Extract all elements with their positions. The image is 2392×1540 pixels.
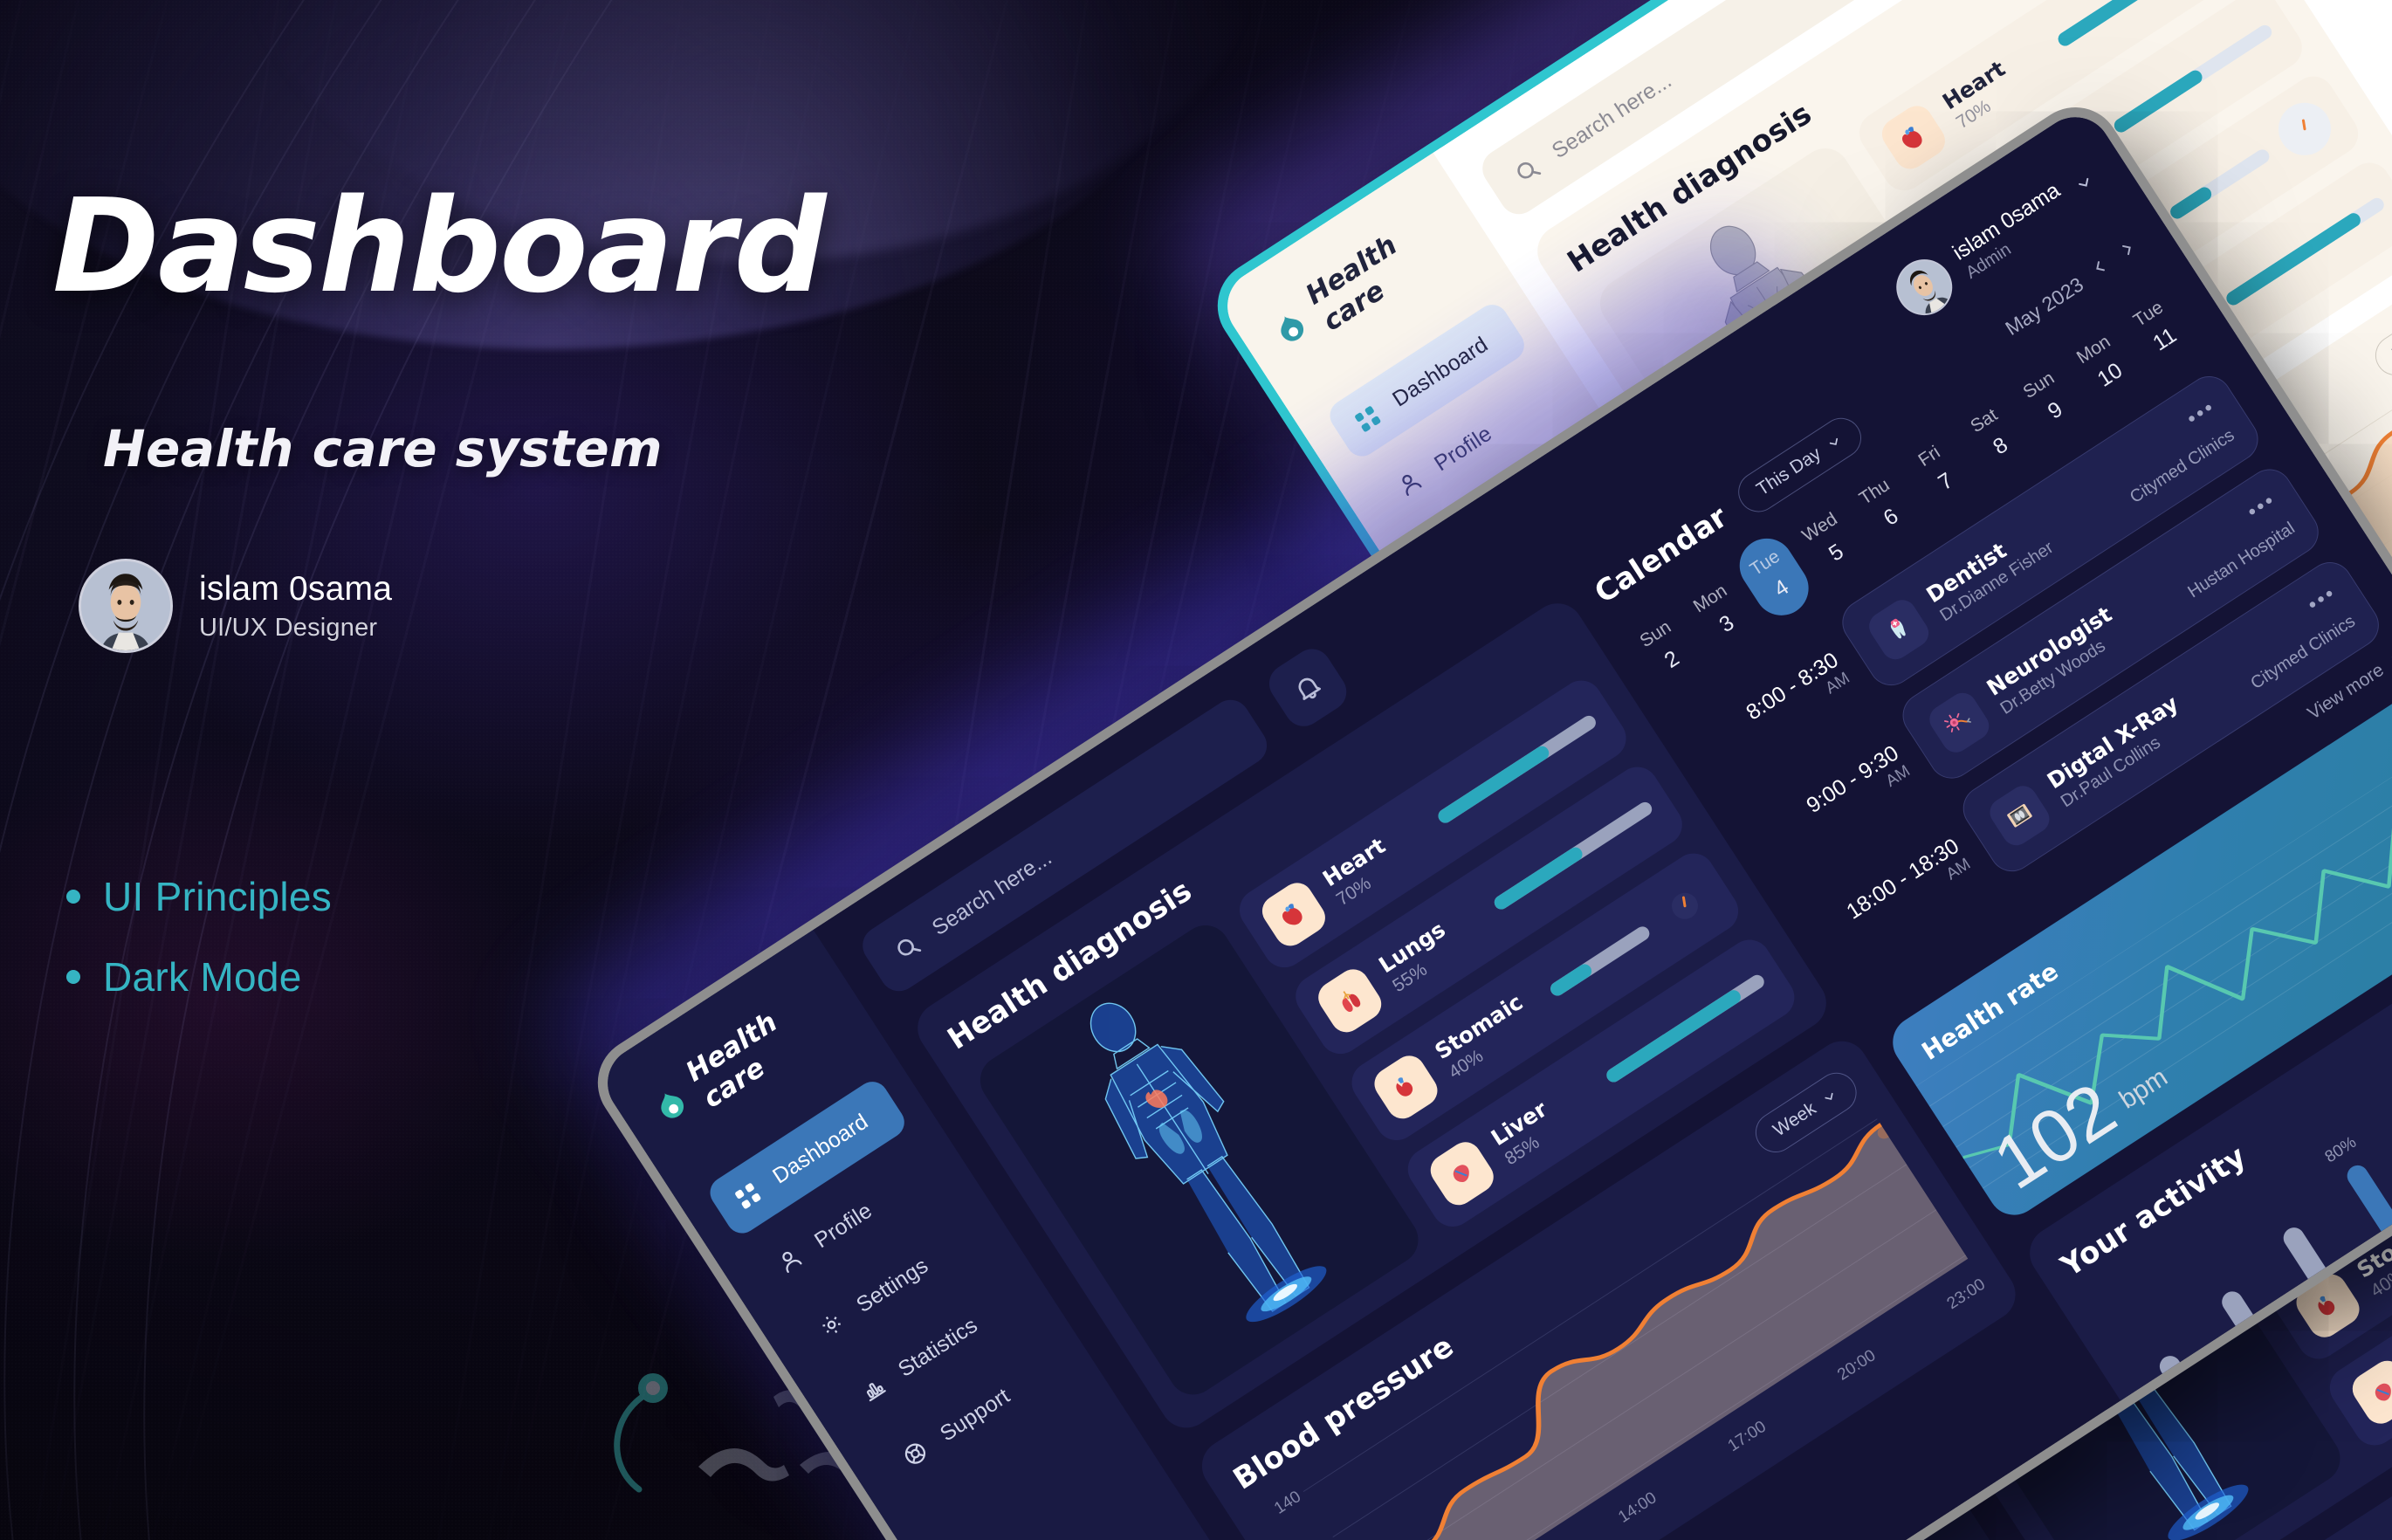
sidebar-item-label: Support — [936, 1383, 1014, 1447]
bp-x-tick: 14:00 — [1615, 1488, 1660, 1527]
organ-progress-bar — [2168, 147, 2272, 221]
chevron-left-icon — [2086, 254, 2113, 280]
notifications-button[interactable] — [1262, 642, 1354, 733]
organ-progress-bar — [1548, 924, 1652, 998]
chevron-right-icon — [2114, 236, 2141, 262]
user-icon — [772, 1242, 808, 1278]
gear-icon — [814, 1307, 849, 1343]
feature-label: UI Principles — [103, 873, 332, 920]
lungs-organ-icon — [1330, 980, 1371, 1021]
lifebuoy-icon — [897, 1435, 933, 1471]
search-icon — [890, 930, 925, 966]
stomach-organ-icon — [2307, 1285, 2348, 1326]
sidebar-item-label: Dashboard — [768, 1109, 873, 1189]
avatar-portrait-icon — [81, 561, 170, 650]
liver-organ-icon — [1425, 1136, 1500, 1211]
page-subtitle: Health care system — [103, 419, 663, 478]
more-options-icon[interactable]: ••• — [2182, 395, 2221, 431]
chevron-down-icon — [2072, 170, 2098, 196]
blood-pressure-range-value: Week — [1770, 1098, 1820, 1141]
bullet-dot-icon — [66, 890, 80, 904]
appointment-time: 9:00 - 9:30 AM — [2369, 0, 2392, 89]
feature-list: UI Principles Dark Mode — [66, 873, 332, 1000]
chevron-right-icon — [2385, 649, 2392, 670]
logo-drop-icon — [647, 1081, 695, 1129]
search-icon — [1509, 153, 1545, 189]
liver-organ-icon — [1441, 1153, 1482, 1194]
appointment-place: ••• Hustan Hospital — [2164, 488, 2299, 602]
liver-organ-icon — [2363, 1372, 2392, 1413]
tooth-icon — [1864, 595, 1934, 664]
chart-icon — [856, 1372, 891, 1407]
avatar — [1886, 249, 1963, 327]
lungs-organ-icon — [1312, 963, 1387, 1038]
feature-label: Dark Mode — [103, 953, 302, 1000]
xray-icon — [2000, 796, 2038, 835]
grid-icon — [730, 1178, 766, 1213]
author-block: islam 0sama UI/UX Designer — [79, 559, 392, 653]
appointment-time-range: 9:00 - 9:30 — [2369, 0, 2392, 73]
appointment-place: ••• Citymed Clinics — [2107, 395, 2238, 508]
list-item: Dark Mode — [66, 953, 332, 1000]
bp-x-tick: 20:00 — [1834, 1346, 1880, 1385]
bp-y-tick: 120 — [1303, 1537, 1337, 1540]
appointment-text: Dentist Dr.Dianne Fisher — [1921, 515, 2057, 626]
grid-icon — [1350, 401, 1385, 437]
tooth-icon — [1880, 610, 1918, 649]
more-options-icon[interactable]: ••• — [2303, 581, 2341, 617]
calendar-range-value: This Day — [1753, 443, 1825, 500]
calendar-prev-button[interactable] — [2086, 254, 2116, 285]
sidebar-item-label: Settings — [852, 1253, 933, 1317]
sidebar-item-label: Statistics — [894, 1312, 982, 1382]
author-name: islam 0sama — [199, 570, 392, 608]
activity-peak-label: 80% — [2322, 1133, 2361, 1167]
calendar-month-label: May 2023 — [2001, 272, 2087, 340]
bullet-dot-icon — [66, 970, 80, 984]
list-item: UI Principles — [66, 873, 332, 920]
neuron-icon — [1940, 703, 1978, 741]
heart-organ-icon — [1256, 877, 1331, 952]
organ-meta: Stomaic 40% — [1430, 982, 1550, 1083]
appointment-place: ••• Citymed Clinics — [2227, 581, 2359, 694]
avatar-portrait-icon — [1887, 251, 1960, 324]
author-text: islam 0sama UI/UX Designer — [199, 570, 392, 643]
gauge-icon — [2268, 93, 2340, 165]
chevron-down-icon — [1819, 1086, 1841, 1108]
chevron-down-icon — [1824, 431, 1846, 453]
page-title: Dashboard — [52, 171, 825, 321]
heart-organ-icon — [1876, 100, 1951, 175]
heart-organ-icon — [1893, 117, 1934, 158]
brand-name: Health care — [681, 976, 847, 1114]
liver-organ-icon — [2347, 1355, 2392, 1430]
author-role: UI/UX Designer — [199, 614, 392, 643]
logo-drop-icon — [1267, 304, 1315, 352]
heart-organ-icon — [1273, 894, 1314, 935]
brand-name: Health care — [1301, 199, 1467, 337]
organ-meta: Liver 85% — [1487, 1069, 1606, 1170]
bp-y-tick: 140 — [1271, 1488, 1305, 1519]
avatar — [79, 559, 173, 653]
bell-icon — [1288, 667, 1329, 708]
calendar-next-button[interactable] — [2114, 236, 2144, 266]
neuron-icon — [1924, 687, 1994, 757]
blood-pressure-range-select[interactable]: Week — [2368, 288, 2392, 383]
xray-icon — [1984, 780, 2054, 850]
bp-x-tick: 17:00 — [1725, 1418, 1770, 1456]
organ-meta: Lungs 55% — [1374, 896, 1494, 997]
search-placeholder: Search here... — [927, 845, 1055, 941]
more-options-icon[interactable]: ••• — [2243, 488, 2281, 525]
stomach-organ-icon — [1369, 1049, 1444, 1124]
sidebar-item-label: Profile — [810, 1198, 876, 1254]
bp-x-tick: 23:00 — [1944, 1275, 1990, 1314]
stomach-organ-icon — [1385, 1067, 1426, 1108]
organ-meta: Heart 70% — [1318, 809, 1438, 911]
organ-meta: Heart 70% — [1938, 32, 2058, 134]
search-placeholder: Search here... — [1547, 68, 1675, 164]
appointment-text: Neurologist Dr.Betty Woods — [1982, 602, 2127, 719]
gauge-icon — [1648, 870, 1721, 942]
